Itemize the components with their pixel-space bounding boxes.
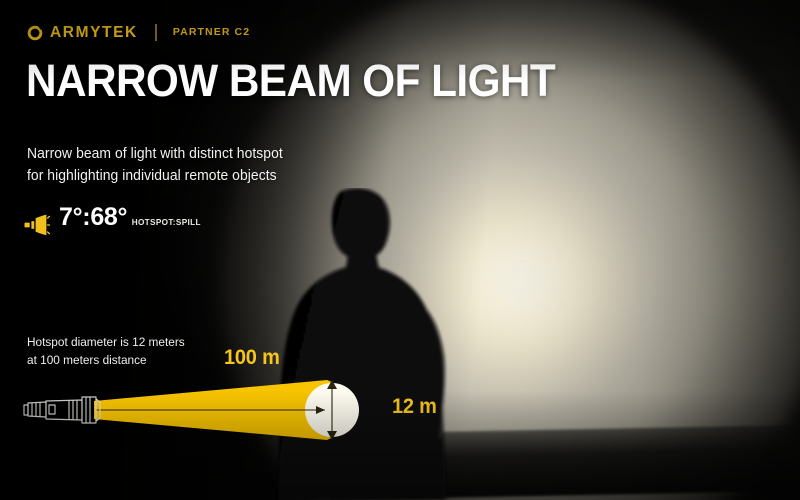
promo-banner: ARMYTEK PARTNER C2 NARROW BEAM OF LIGHT … [0,0,800,500]
vignette-overlay [0,0,800,500]
